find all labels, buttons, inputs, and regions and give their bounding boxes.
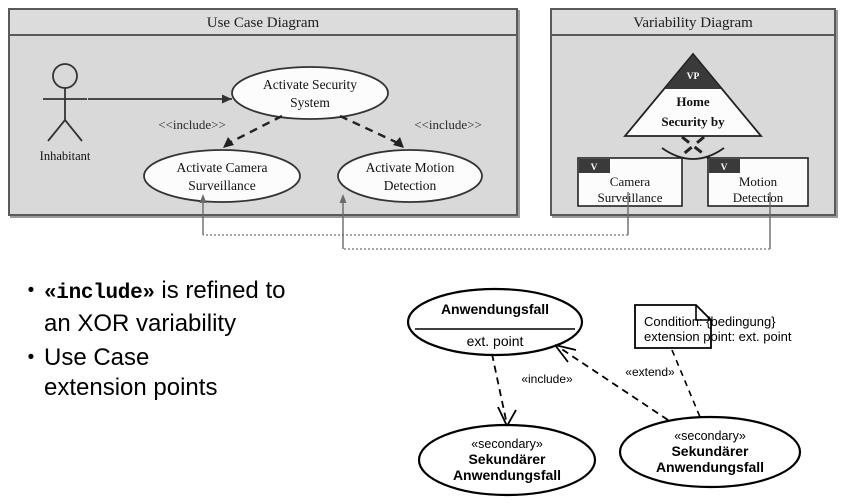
bullet-text-1: «include» is refined to an XOR variabili… bbox=[44, 276, 285, 339]
xor-variability-connectors bbox=[662, 137, 724, 170]
include-label-right: <<include>> bbox=[414, 117, 482, 132]
variant-motion-line2: Detection bbox=[733, 190, 784, 205]
include-dependency-arrow bbox=[492, 354, 516, 426]
include-stereotype-text: «include» bbox=[44, 282, 155, 305]
anwendungsfall-name: Anwendungsfall bbox=[441, 301, 549, 317]
bullet-1-line2: an XOR variability bbox=[44, 310, 236, 337]
secondary-include-line2: Anwendungsfall bbox=[453, 467, 561, 483]
variation-point-line2: Security by bbox=[661, 114, 725, 129]
variation-point-triangle[interactable] bbox=[625, 54, 761, 136]
include-relation-label: «include» bbox=[521, 372, 573, 386]
variability-diagram-labels: VP Home Security by V Camera Surveillanc… bbox=[552, 36, 834, 214]
anwendungsfall-ext-point: ext. point bbox=[467, 333, 524, 349]
use-case-diagram-frame: Use Case Diagram bbox=[8, 8, 518, 216]
actor-inhabitant[interactable] bbox=[43, 64, 87, 141]
uc-activate-motion-detection[interactable] bbox=[338, 150, 482, 202]
variability-diagram-title: Variability Diagram bbox=[552, 10, 834, 36]
note-line-2: extension point: ext. point bbox=[644, 329, 792, 344]
bullet-2-line1: Use Case bbox=[44, 344, 149, 371]
bullet-text-2: Use Case extension points bbox=[44, 343, 217, 403]
bullet-list: • «include» is refined to an XOR variabi… bbox=[18, 276, 418, 407]
bullet-1-rest: is refined to bbox=[155, 277, 286, 304]
secondary-extend-line2: Anwendungsfall bbox=[656, 459, 764, 475]
list-item: • «include» is refined to an XOR variabi… bbox=[18, 276, 418, 339]
include-arrow-left bbox=[223, 116, 282, 148]
uc-activate-security-system[interactable] bbox=[232, 67, 388, 119]
use-case-diagram-labels: Inhabitant Activate Security System Acti… bbox=[10, 36, 516, 214]
uc-ass-line1: Activate Security bbox=[263, 77, 357, 92]
variability-diagram-body: VP Home Security by V Camera Surveillanc… bbox=[552, 36, 834, 214]
bullet-marker: • bbox=[18, 343, 44, 373]
list-item: • Use Case extension points bbox=[18, 343, 418, 403]
variation-point-tag: VP bbox=[687, 72, 700, 82]
variant-tag-motion: V bbox=[721, 163, 728, 173]
secondary-include-stereotype: «secondary» bbox=[471, 437, 543, 451]
include-arrow-right bbox=[340, 116, 404, 148]
variation-point-line1: Home bbox=[676, 94, 709, 109]
slide-canvas: Use Case Diagram bbox=[0, 0, 866, 503]
bullet-marker: • bbox=[18, 276, 44, 306]
use-case-diagram-graphics bbox=[10, 36, 516, 214]
extend-relation-label: «extend» bbox=[625, 365, 675, 379]
uc-amd-line1: Activate Motion bbox=[366, 160, 455, 175]
uc-acs-line1: Activate Camera bbox=[176, 160, 267, 175]
use-case-diagram-title: Use Case Diagram bbox=[10, 10, 516, 36]
variant-box-camera-surveillance[interactable] bbox=[578, 158, 682, 206]
uc-acs-line2: Surveillance bbox=[188, 178, 255, 193]
variant-box-motion-detection[interactable] bbox=[708, 158, 808, 206]
uc-amd-line2: Detection bbox=[384, 178, 437, 193]
actor-label: Inhabitant bbox=[40, 149, 91, 163]
variant-camera-line2: Surveillance bbox=[598, 190, 663, 205]
variant-camera-line1: Camera bbox=[610, 174, 651, 189]
variability-diagram-graphics bbox=[552, 36, 834, 214]
actor-association-line bbox=[88, 95, 232, 104]
use-case-diagram-body: Inhabitant Activate Security System Acti… bbox=[10, 36, 516, 214]
note-line-1: Condition: {bedingung} bbox=[644, 314, 776, 329]
variant-tag-camera: V bbox=[591, 163, 598, 173]
uc-activate-camera-surveillance[interactable] bbox=[144, 150, 300, 202]
extension-point-diagram: Anwendungsfall ext. point Condition: {be… bbox=[400, 280, 866, 503]
include-label-left: <<include>> bbox=[158, 117, 226, 132]
secondary-extend-line1: Sekundärer bbox=[671, 443, 749, 459]
bullet-2-line2: extension points bbox=[44, 374, 217, 401]
note-anchor-line bbox=[672, 350, 700, 417]
variant-motion-line1: Motion bbox=[739, 174, 778, 189]
variability-diagram-frame: Variability Diagram bbox=[550, 8, 836, 216]
secondary-include-line1: Sekundärer bbox=[468, 451, 546, 467]
secondary-extend-stereotype: «secondary» bbox=[674, 429, 746, 443]
uc-ass-line2: System bbox=[290, 95, 330, 110]
